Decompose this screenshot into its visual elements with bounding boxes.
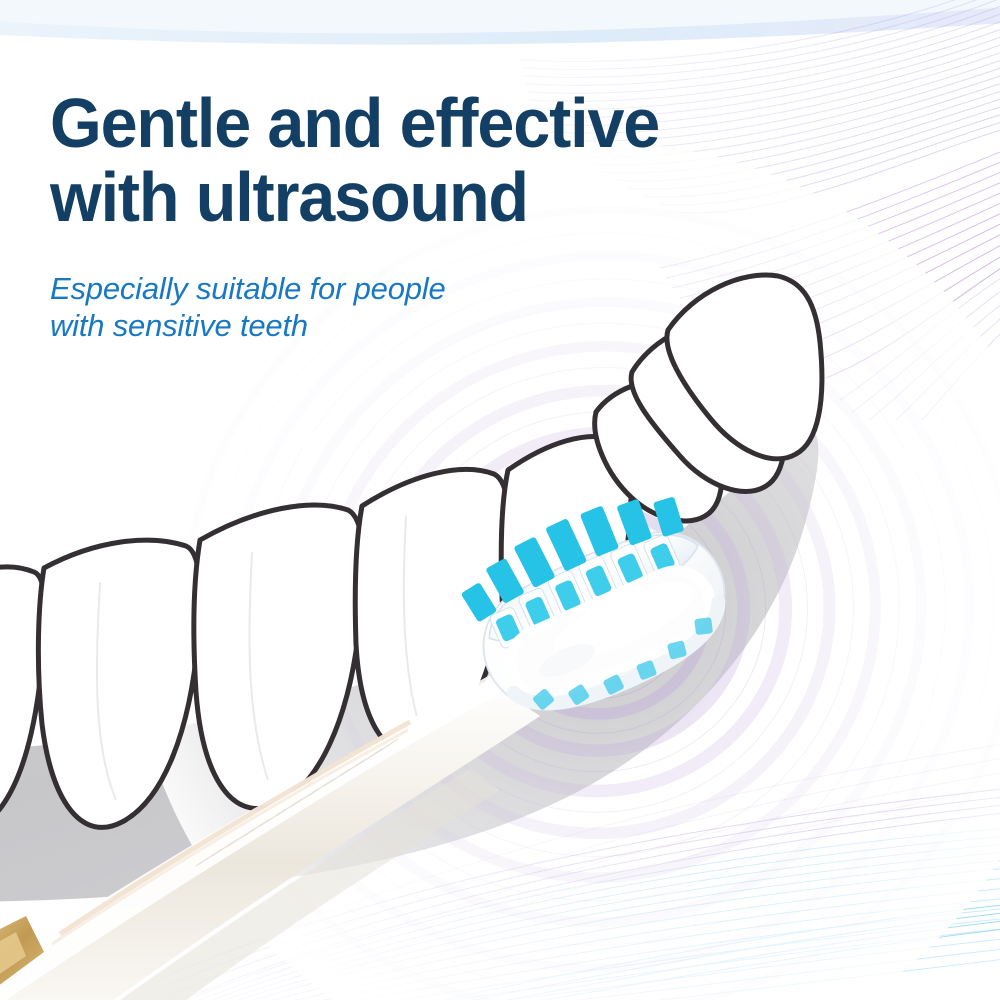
text-block: Gentle and effective with ultrasound Esp…	[50, 86, 860, 344]
subtitle: Especially suitable for people with sens…	[50, 234, 860, 344]
promo-banner: Gentle and effective with ultrasound Esp…	[0, 0, 1000, 1000]
page-title: Gentle and effective with ultrasound	[50, 86, 820, 234]
